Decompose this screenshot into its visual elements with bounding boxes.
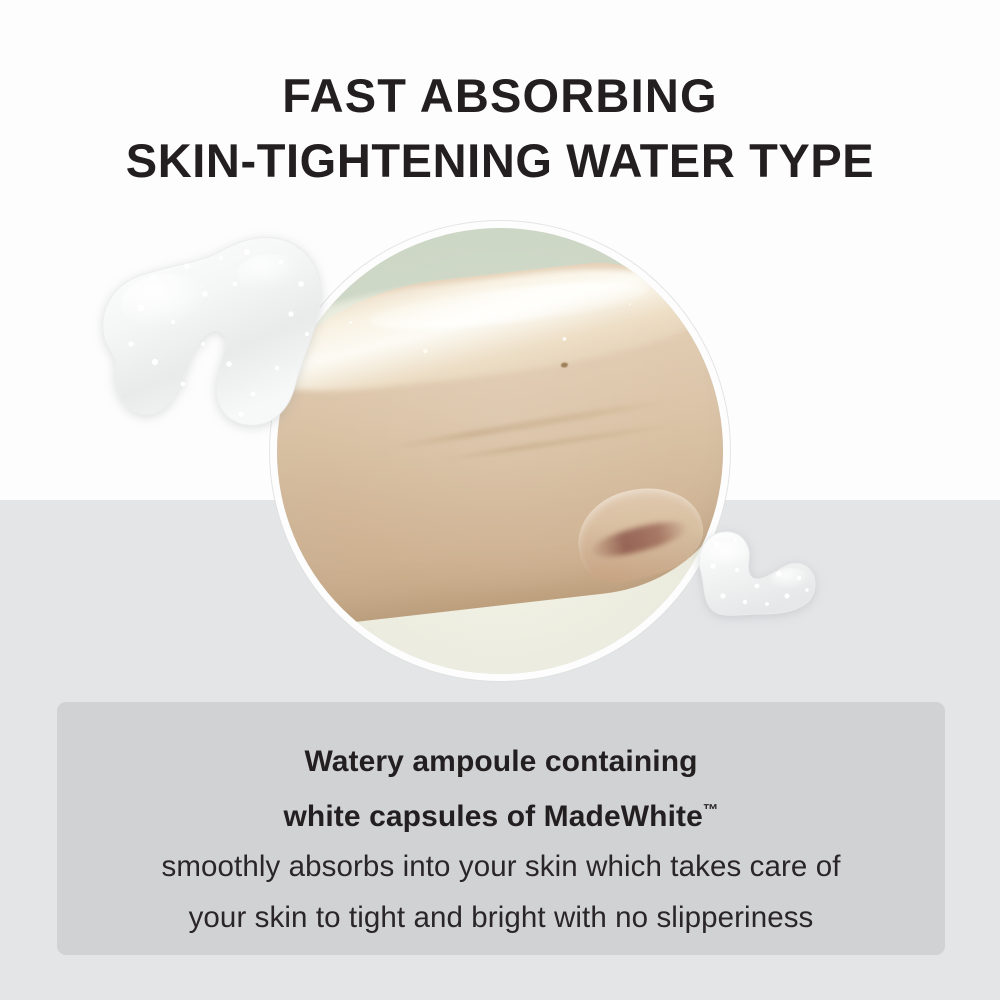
hero-collage — [0, 200, 1000, 700]
headline-line-1: FAST ABSORBING — [0, 63, 1000, 128]
caption-line-2-text: white capsules of MadeWhite — [283, 800, 702, 833]
product-feature-panel: FAST ABSORBING SKIN-TIGHTENING WATER TYP… — [0, 0, 1000, 1000]
headline-line-2: SKIN-TIGHTENING WATER TYPE — [0, 128, 1000, 193]
caption-line-1: Watery ampoule containing — [57, 737, 945, 786]
trademark-symbol: ™ — [703, 802, 719, 819]
headline: FAST ABSORBING SKIN-TIGHTENING WATER TYP… — [0, 63, 1000, 193]
gel-texture-swatch-right — [683, 520, 823, 635]
caption-line-3: smoothly absorbs into your skin which ta… — [57, 841, 945, 892]
gel-texture-swatch-left — [95, 222, 350, 442]
caption-panel: Watery ampoule containing white capsules… — [57, 702, 945, 955]
caption-line-4: your skin to tight and bright with no sl… — [57, 892, 945, 943]
caption-line-2: white capsules of MadeWhite™ — [57, 786, 945, 841]
caption-text: Watery ampoule containing white capsules… — [57, 737, 945, 943]
